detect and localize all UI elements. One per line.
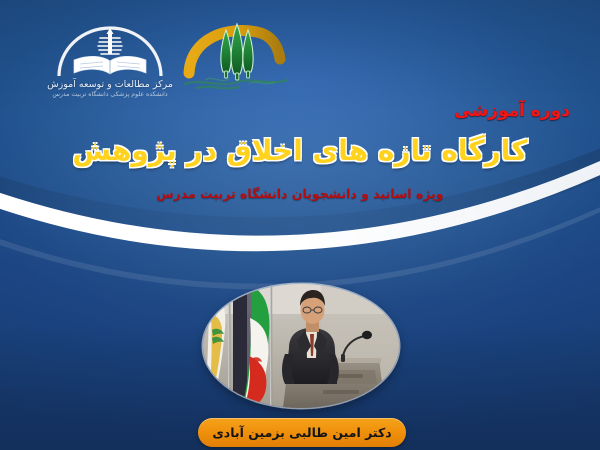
kicker-label: دوره آموزشی: [454, 101, 570, 121]
speaker-photo: [203, 284, 399, 408]
open-book-with-minaret-under-arch-icon: [51, 20, 169, 78]
logo-row: مرکز مطالعات و توسعه آموزش دانشکده علوم …: [0, 18, 600, 110]
logo-cdme-line2: دانشکده علوم پزشکی دانشگاه تربیت مدرس: [52, 91, 167, 98]
speaker-name-label: دکتر امین طالبی بزمین آبادی: [212, 425, 391, 440]
page-title: کارگاه تازه های اخلاق در پژوهش: [0, 134, 600, 167]
presentation-slide: مرکز مطالعات و توسعه آموزش دانشکده علوم …: [0, 0, 600, 450]
logo-cdme-line1: مرکز مطالعات و توسعه آموزش: [47, 79, 173, 90]
logo-cdme: مرکز مطالعات و توسعه آموزش دانشکده علوم …: [44, 20, 176, 98]
cypress-trees-with-golden-arch-icon: [179, 18, 293, 92]
subtitle: ویژه اساتید و دانشجویان دانشگاه تربیت مد…: [0, 186, 600, 201]
logo-tmu: [176, 18, 296, 92]
speaker-name-badge: دکتر امین طالبی بزمین آبادی: [198, 418, 406, 447]
speaker-photo-image: [203, 284, 399, 408]
